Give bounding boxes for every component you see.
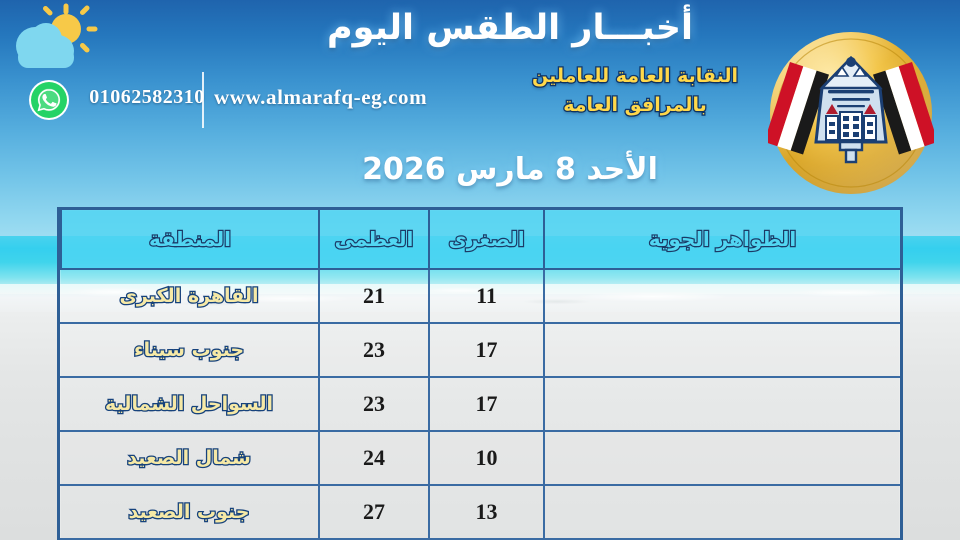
report-date: الأحد 8 مارس 2026: [300, 152, 720, 187]
page-title: أخبـــار الطقس اليوم: [300, 8, 720, 48]
sun-behind-cloud-icon: [8, 2, 104, 78]
cell-phenomena: [543, 486, 900, 538]
cell-phenomena: [543, 270, 900, 322]
header-divider: [202, 72, 204, 128]
cell-region: جنوب سيناء: [60, 324, 318, 376]
table-row: 11 21 القاهرة الكبرى: [60, 270, 900, 324]
website-url[interactable]: www.almarafq-eg.com: [214, 85, 427, 110]
union-seal-logo: [768, 30, 934, 196]
cell-max-temp: 24: [318, 432, 428, 484]
cell-region: القاهرة الكبرى: [60, 270, 318, 322]
column-header-max-label: العظمى: [335, 227, 414, 251]
whatsapp-icon[interactable]: [28, 79, 70, 121]
table-row: 17 23 جنوب سيناء: [60, 324, 900, 378]
column-header-min-label: الصغرى: [448, 227, 524, 251]
column-header-min: الصغرى: [428, 210, 543, 268]
cell-max-temp: 21: [318, 270, 428, 322]
cell-min-temp: 11: [428, 270, 543, 322]
cell-min-temp: 13: [428, 486, 543, 538]
cell-phenomena: [543, 432, 900, 484]
weather-table: الظواهر الجوية الصغرى العظمى المنطقة 11 …: [57, 207, 903, 540]
column-header-max: العظمى: [318, 210, 428, 268]
cell-max-temp: 23: [318, 378, 428, 430]
cell-phenomena: [543, 324, 900, 376]
cell-min-temp: 10: [428, 432, 543, 484]
cell-max-temp: 27: [318, 486, 428, 538]
organization-name: النقابة العامة للعاملين بالمرافق العامة: [490, 62, 780, 121]
table-header-row: الظواهر الجوية الصغرى العظمى المنطقة: [60, 210, 900, 270]
cell-region: السواحل الشمالية: [60, 378, 318, 430]
phone-number[interactable]: 01062582310: [82, 86, 212, 109]
cell-phenomena: [543, 378, 900, 430]
column-header-phenomena: الظواهر الجوية: [543, 210, 900, 268]
column-header-region-label: المنطقة: [149, 227, 231, 251]
cell-region: جنوب الصعيد: [60, 486, 318, 538]
cell-region: شمال الصعيد: [60, 432, 318, 484]
weather-report-graphic: 01062582310 www.almarafq-eg.com أخبـــار…: [0, 0, 960, 540]
table-row: 17 23 السواحل الشمالية: [60, 378, 900, 432]
cell-max-temp: 23: [318, 324, 428, 376]
table-row: 10 24 شمال الصعيد: [60, 432, 900, 486]
column-header-region: المنطقة: [60, 210, 318, 268]
cell-min-temp: 17: [428, 378, 543, 430]
column-header-phenomena-label: الظواهر الجوية: [649, 227, 796, 251]
cell-min-temp: 17: [428, 324, 543, 376]
table-row: 13 27 جنوب الصعيد: [60, 486, 900, 540]
